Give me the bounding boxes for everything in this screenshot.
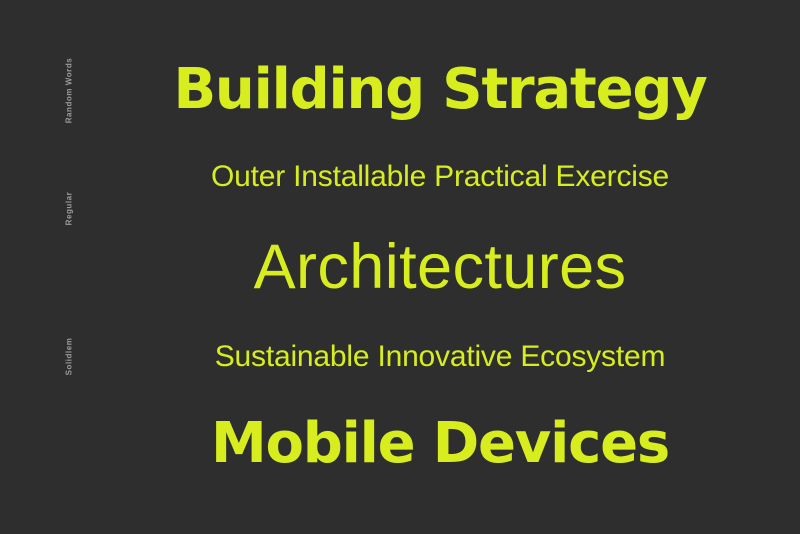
specimen-line-sustainable-innovative: Sustainable Innovative Ecosystem [108,342,772,372]
specimen-line-architectures: Architectures [108,236,772,299]
specimen-stack: Building Strategy Outer Installable Prac… [108,62,772,472]
side-label-regular: Regular [65,139,74,279]
specimen-line-mobile-devices: Mobile Devices [108,416,772,472]
side-label-solidlem: Solidlem [65,287,74,427]
specimen-line-building-strategy: Building Strategy [108,62,772,118]
specimen-line-outer-installable: Outer Installable Practical Exercise [108,162,772,192]
font-specimen-poster: Random Words Regular Solidlem Building S… [0,0,800,534]
